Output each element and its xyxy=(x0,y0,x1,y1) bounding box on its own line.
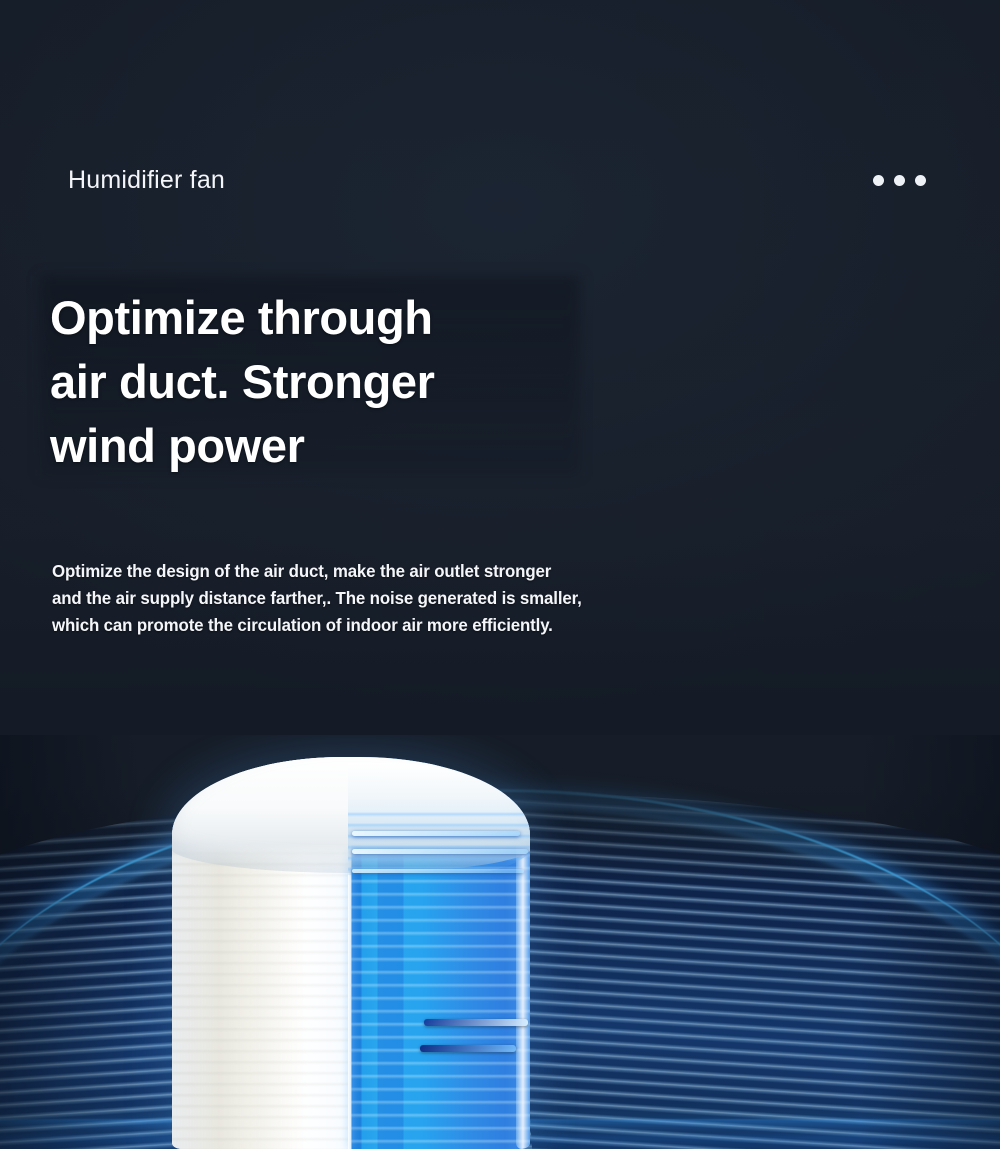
more-horizontal-icon-dot-3 xyxy=(915,175,926,186)
product-air-grille-1 xyxy=(352,831,520,836)
more-horizontal-icon-dot-1 xyxy=(873,175,884,186)
product-inner-clip-2 xyxy=(420,1045,516,1052)
product-air-grille-3 xyxy=(352,869,524,873)
page-title-line-1: Optimize through xyxy=(50,286,670,350)
description-line-1: Optimize the design of the air duct, mak… xyxy=(52,558,824,585)
product-inner-clip-1 xyxy=(424,1019,528,1026)
description-line-2: and the air supply distance farther,. Th… xyxy=(52,585,824,612)
eyebrow-label: Humidifier fan xyxy=(68,168,225,193)
page-title: Optimize through air duct. Stronger wind… xyxy=(50,286,670,478)
product-air-grille-2 xyxy=(352,849,528,854)
product-feature-page: Humidifier fan Optimize through air duct… xyxy=(0,0,1000,1149)
product-body xyxy=(172,757,530,1149)
more-options-button[interactable] xyxy=(869,167,930,194)
more-horizontal-icon-dot-2 xyxy=(894,175,905,186)
page-title-line-2: air duct. Stronger xyxy=(50,350,670,414)
description-line-3: which can promote the circulation of ind… xyxy=(52,612,824,639)
page-title-line-3: wind power xyxy=(50,414,670,478)
product-airflow-scene xyxy=(0,735,1000,1149)
topbar: Humidifier fan xyxy=(0,140,1000,220)
product-image xyxy=(172,757,530,1149)
description-text: Optimize the design of the air duct, mak… xyxy=(52,558,824,639)
